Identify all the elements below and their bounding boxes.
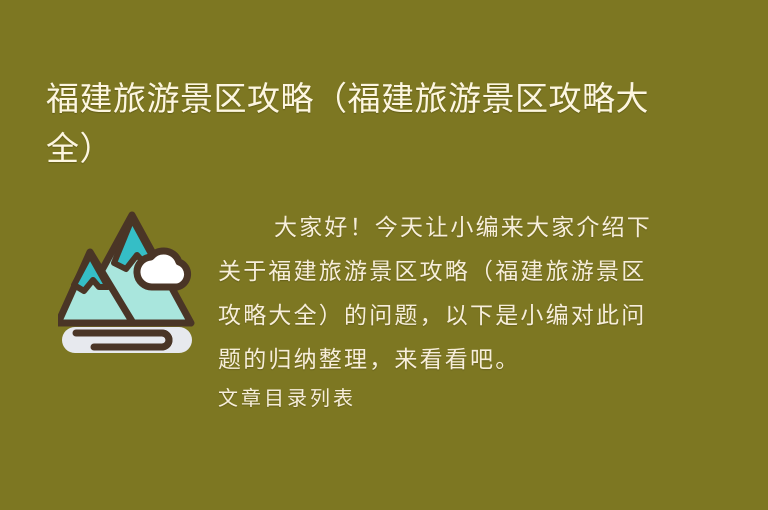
mountain-landscape-svg bbox=[58, 205, 198, 355]
article-intro-paragraph: 大家好！今天让小编来大家介绍下关于福建旅游景区攻略（福建旅游景区攻略大全）的问题… bbox=[218, 206, 660, 382]
article-toc-heading: 文章目录列表 bbox=[218, 382, 660, 416]
article-page: 福建旅游景区攻略（福建旅游景区攻略大全） bbox=[0, 0, 768, 510]
small-mountain-peak bbox=[74, 255, 108, 291]
cloud-shape bbox=[137, 251, 188, 287]
article-body: 大家好！今天让小编来大家介绍下关于福建旅游景区攻略（福建旅游景区攻略大全）的问题… bbox=[218, 206, 660, 416]
mountain-landscape-icon bbox=[58, 205, 198, 355]
article-content-row: 大家好！今天让小编来大家介绍下关于福建旅游景区攻略（福建旅游景区攻略大全）的问题… bbox=[0, 200, 768, 500]
page-title-block: 福建旅游景区攻略（福建旅游景区攻略大全） bbox=[46, 52, 666, 196]
page-title: 福建旅游景区攻略（福建旅游景区攻略大全） bbox=[46, 74, 666, 174]
